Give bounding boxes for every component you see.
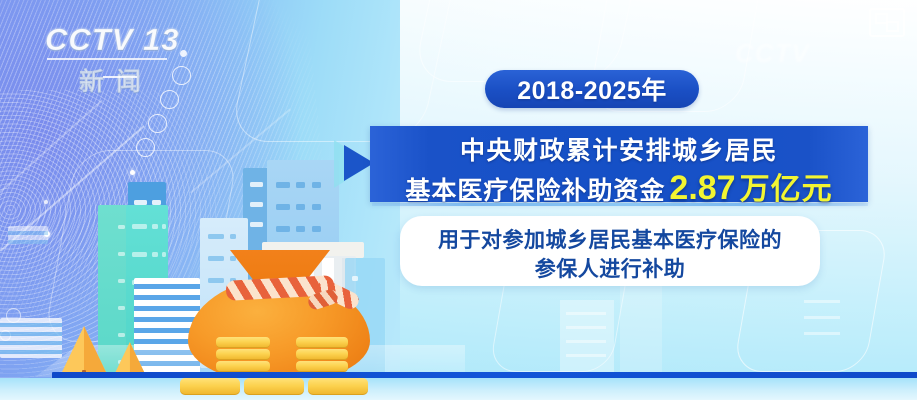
building-window bbox=[352, 276, 358, 281]
coin-stack-icon bbox=[216, 361, 270, 372]
headline-unit: 万亿元 bbox=[740, 164, 833, 208]
building-window bbox=[312, 226, 321, 232]
building-window bbox=[118, 333, 125, 337]
coin-stack-icon bbox=[296, 361, 348, 372]
ghost-win-1 bbox=[566, 312, 606, 315]
cctv-logo-cn: 新闻 bbox=[79, 62, 153, 98]
cctv-logo-cn-underline bbox=[103, 76, 137, 78]
ghost-win-4 bbox=[566, 354, 606, 357]
infographic-canvas: CCTV 13 新闻 CCTV 2018-2025年 中央财政累计安排城乡居民 … bbox=[0, 0, 917, 400]
building-window bbox=[118, 279, 125, 283]
decor-dot-3 bbox=[44, 200, 48, 204]
headline-line-2: 基本医疗保险补助资金 2.87 万亿元 bbox=[370, 164, 868, 208]
building-window bbox=[208, 234, 224, 239]
building-window bbox=[118, 225, 125, 229]
building-window bbox=[230, 256, 236, 261]
coin-stack-icon bbox=[244, 378, 304, 395]
building-window bbox=[276, 226, 290, 232]
building-window bbox=[312, 182, 321, 188]
description-card: 用于对参加城乡居民基本医疗保险的 参保人进行补助 bbox=[400, 216, 820, 286]
building-window bbox=[208, 278, 224, 283]
building-striped-far bbox=[0, 318, 62, 358]
description-line-2: 参保人进行补助 bbox=[400, 253, 820, 283]
ghost-watermark-text: CCTV bbox=[735, 38, 810, 69]
ghost-win-2 bbox=[566, 326, 606, 329]
building-window bbox=[230, 234, 236, 239]
headline-line-2-prefix: 基本医疗保险补助资金 bbox=[405, 171, 665, 207]
broadcast-watermark-icon bbox=[869, 8, 905, 37]
building-window bbox=[152, 252, 158, 257]
date-range-badge: 2018-2025年 bbox=[485, 70, 699, 108]
headline-value: 2.87 bbox=[669, 171, 735, 205]
building-window bbox=[208, 256, 224, 261]
building-window bbox=[276, 204, 290, 210]
building-window bbox=[250, 202, 263, 207]
date-range-label: 2018-2025年 bbox=[517, 71, 667, 107]
headline-line-1: 中央财政累计安排城乡居民 bbox=[370, 131, 868, 167]
building-window bbox=[296, 182, 305, 188]
ghost-win-6 bbox=[804, 316, 840, 319]
building-window bbox=[276, 182, 290, 188]
ground-foreground bbox=[0, 378, 917, 400]
building-window bbox=[162, 224, 166, 229]
cctv-logo-underline bbox=[47, 58, 167, 60]
building-window bbox=[250, 182, 263, 187]
building-window bbox=[132, 224, 147, 229]
coin-stack-icon bbox=[216, 349, 270, 360]
building-window bbox=[118, 252, 125, 256]
building-window bbox=[162, 252, 166, 257]
description-line-1: 用于对参加城乡居民基本医疗保险的 bbox=[400, 224, 820, 254]
ghost-win-3 bbox=[566, 340, 606, 343]
cctv-logo-text: CCTV 13 bbox=[45, 22, 215, 58]
ghost-win-7 bbox=[804, 332, 840, 335]
coin-stack-icon bbox=[296, 337, 348, 348]
building-window bbox=[152, 224, 158, 229]
headline-banner: 中央财政累计安排城乡居民 基本医疗保险补助资金 2.87 万亿元 bbox=[370, 126, 868, 202]
coin-stack-icon bbox=[308, 378, 368, 395]
building-window bbox=[296, 204, 305, 210]
cctv-logo: CCTV 13 新闻 bbox=[45, 22, 215, 94]
building-striped-far2 bbox=[8, 226, 48, 244]
building-window bbox=[296, 226, 305, 232]
building-window bbox=[312, 204, 321, 210]
coin-stack-icon bbox=[180, 378, 240, 395]
building-window bbox=[250, 222, 263, 227]
headline-banner-underline bbox=[372, 203, 868, 206]
coin-stack-icon bbox=[296, 349, 348, 360]
building-window bbox=[118, 306, 125, 310]
ghost-win-5 bbox=[804, 300, 840, 303]
coin-stack-icon bbox=[216, 337, 270, 348]
building-window bbox=[132, 252, 147, 257]
